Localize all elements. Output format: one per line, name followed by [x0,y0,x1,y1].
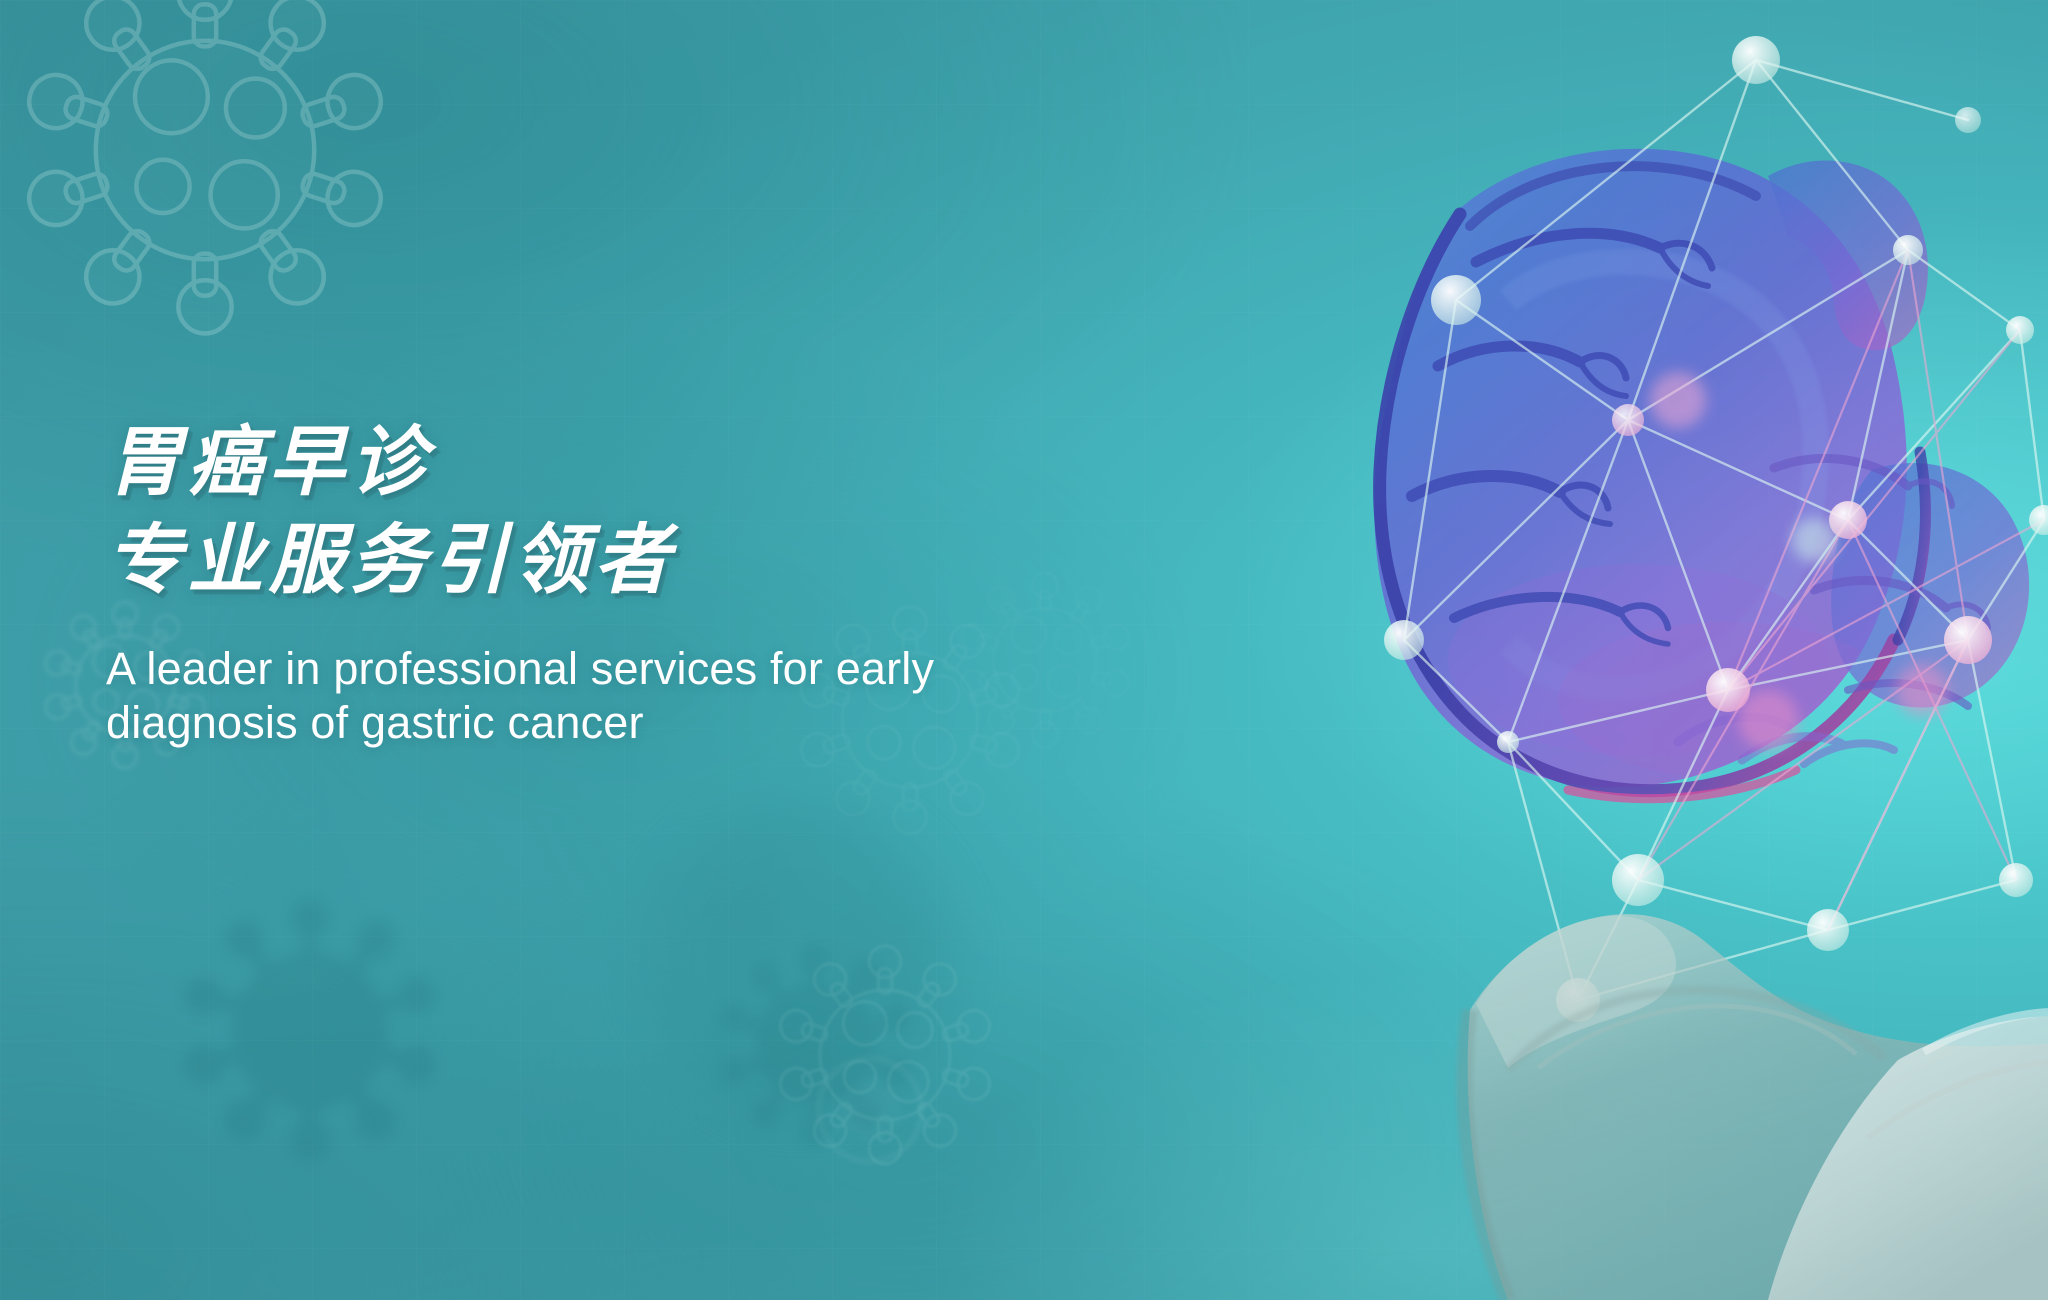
page-title: 胃癌早诊 专业服务引领者 [106,420,1156,604]
headline-line-2: 专业服务引领者 [106,518,1156,604]
virus-watermark-top-left-icon [0,0,440,360]
promo-banner: 胃癌早诊 专业服务引领者 A leader in professional se… [0,0,2048,1300]
subtitle-line-2: diagnosis of gastric cancer [106,696,1106,750]
copy-block: 胃癌早诊 专业服务引领者 A leader in professional se… [106,420,1156,750]
hand-holding-stomach-illustration [1208,0,2048,1300]
subtitle-line-1: A leader in professional services for ea… [106,642,1106,696]
headline-line-1: 胃癌早诊 [106,420,1156,506]
cell-watermark-bottom-icon [770,1020,970,1200]
virus-watermark-bottom-left-icon [160,880,460,1180]
page-subtitle: A leader in professional services for ea… [106,642,1106,750]
